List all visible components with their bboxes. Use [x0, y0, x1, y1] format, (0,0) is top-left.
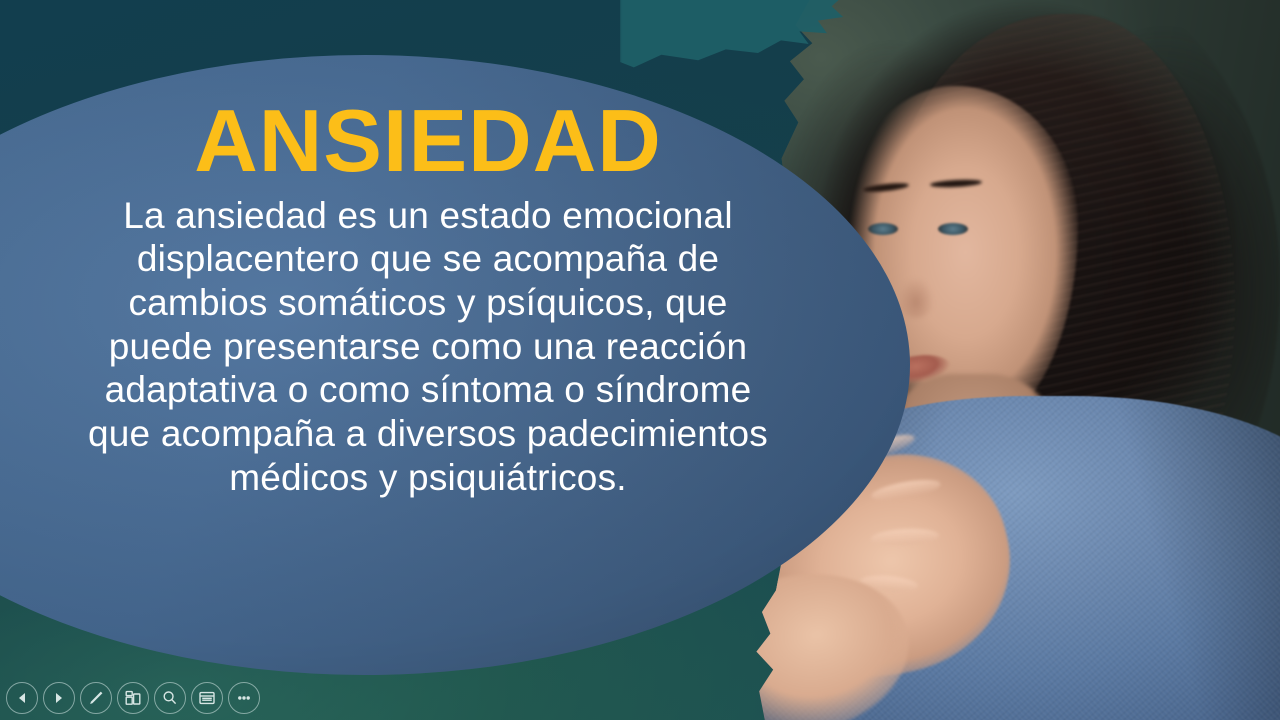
text-block: ANSIEDAD La ansiedad es un estado emocio…: [78, 96, 778, 499]
presenter-view-button[interactable]: [191, 682, 223, 714]
layout-icon: [123, 688, 143, 708]
pen-icon: [86, 688, 106, 708]
triangle-left-icon: [13, 689, 31, 707]
slide-title: ANSIEDAD: [78, 96, 778, 186]
zoom-button[interactable]: [154, 682, 186, 714]
magnifier-icon: [160, 688, 180, 708]
ellipsis-icon: [234, 688, 254, 708]
slide-body-text: La ansiedad es un estado emocional displ…: [78, 194, 778, 500]
previous-slide-button[interactable]: [6, 682, 38, 714]
more-options-button[interactable]: [228, 682, 260, 714]
presentation-slide: ANSIEDAD La ansiedad es un estado emocio…: [0, 0, 1280, 720]
slide-layout-button[interactable]: [117, 682, 149, 714]
next-slide-button[interactable]: [43, 682, 75, 714]
pen-button[interactable]: [80, 682, 112, 714]
presenter-view-icon: [197, 688, 217, 708]
triangle-right-icon: [50, 689, 68, 707]
slideshow-toolbar: [6, 682, 260, 714]
